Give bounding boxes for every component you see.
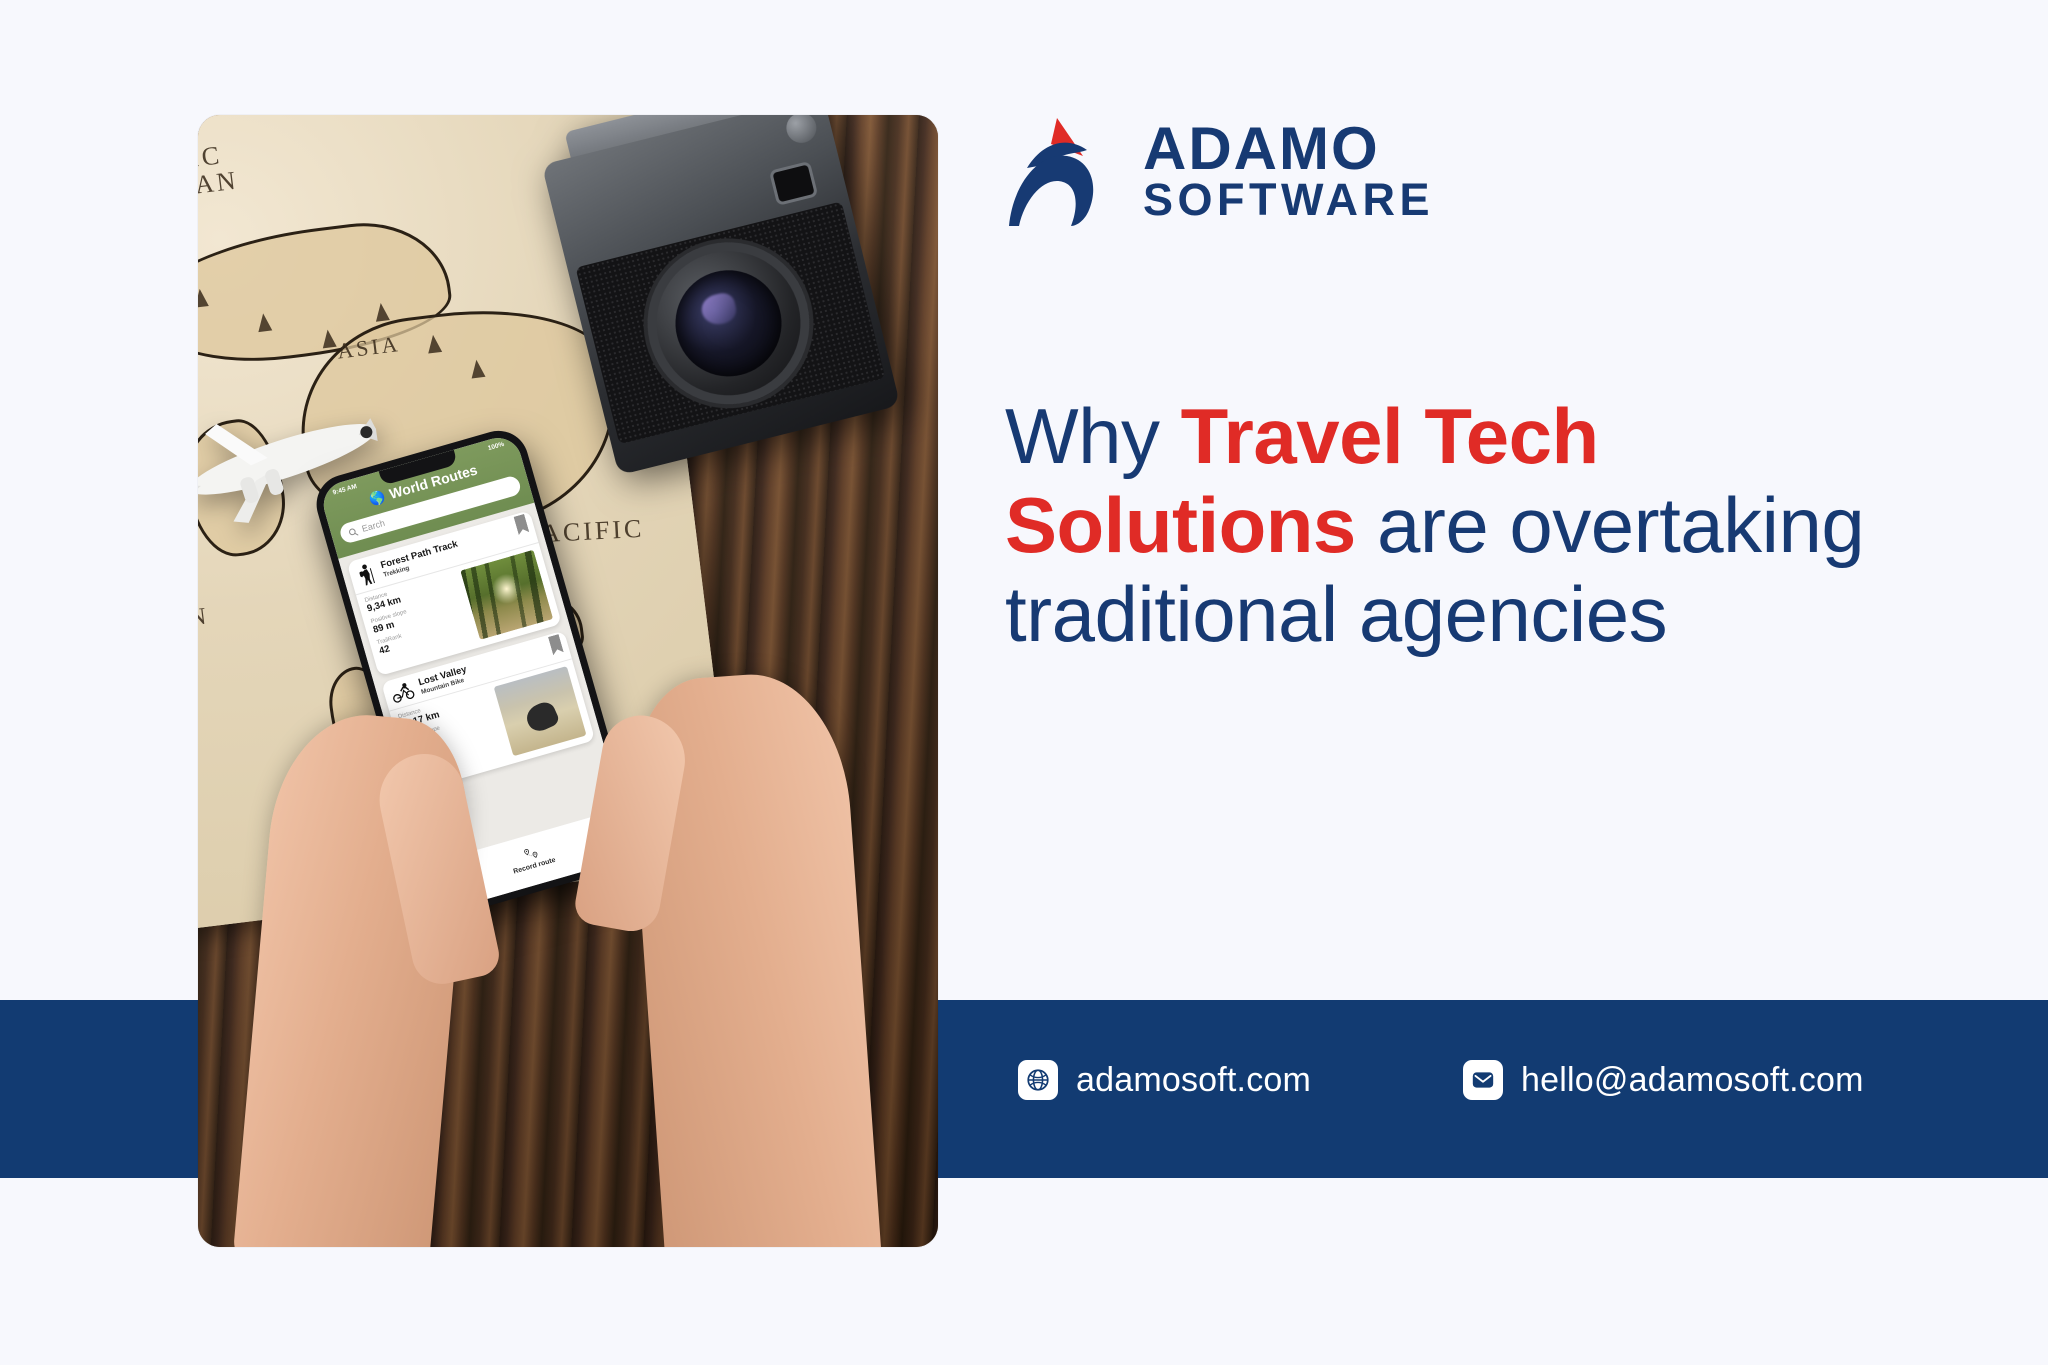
hero-photo: ARTICOCEAN OPE ASIA PACIFICO NDIANCEAN A…: [198, 115, 938, 1247]
adamo-logo-mark: [1005, 112, 1109, 230]
bookmark-icon[interactable]: [514, 514, 530, 535]
map-tree-icon: [374, 302, 390, 322]
map-tree-icon: [426, 334, 442, 354]
route-thumbnail: [494, 666, 587, 756]
search-placeholder: Earch: [361, 518, 386, 534]
brand-logo: ADAMO SOFTWARE: [1005, 112, 1434, 230]
headline-part-plain-1: Why: [1005, 392, 1181, 480]
camera-lens-glass: [664, 259, 792, 387]
website-text: adamosoft.com: [1076, 1061, 1311, 1100]
route-thumbnail: [460, 550, 553, 640]
map-tree-icon: [321, 329, 337, 349]
nav-item-record-route[interactable]: Record route: [508, 841, 556, 875]
globe-icon: 🌎: [368, 489, 387, 506]
lens-flare: [699, 291, 739, 328]
envelope-icon: [1463, 1060, 1503, 1100]
bookmark-icon[interactable]: [548, 634, 564, 655]
search-icon: [347, 526, 358, 537]
headline-part-plain-4: traditional agencies: [1005, 570, 1667, 658]
logo-name-secondary: SOFTWARE: [1143, 178, 1434, 222]
page-title: Why Travel Tech Solutions are overtaking…: [1005, 392, 1885, 659]
contact-website[interactable]: adamosoft.com: [1018, 1060, 1311, 1100]
headline-part-plain-2: are: [1356, 481, 1488, 569]
headline-part-accent-2: Solutions: [1005, 481, 1356, 569]
headline-part-accent-1: Travel Tech: [1181, 392, 1599, 480]
footer-contacts: adamosoft.com hello@adamosoft.com: [1018, 1060, 1864, 1100]
status-time: 9:45 AM: [332, 483, 358, 497]
contact-email[interactable]: hello@adamosoft.com: [1463, 1060, 1864, 1100]
banner-canvas: ARTICOCEAN OPE ASIA PACIFICO NDIANCEAN A…: [0, 0, 2048, 1365]
cyclist-icon: [390, 681, 416, 704]
globe-icon: [1018, 1060, 1058, 1100]
email-text: hello@adamosoft.com: [1521, 1061, 1864, 1100]
headline-part-plain-3: overtaking: [1509, 481, 1864, 569]
hiker-icon: [355, 562, 378, 588]
map-tree-icon: [256, 313, 272, 333]
map-tree-icon: [469, 359, 485, 379]
status-battery: 100%: [487, 441, 505, 452]
logo-wordmark: ADAMO SOFTWARE: [1143, 120, 1434, 222]
logo-name-primary: ADAMO: [1143, 120, 1434, 178]
